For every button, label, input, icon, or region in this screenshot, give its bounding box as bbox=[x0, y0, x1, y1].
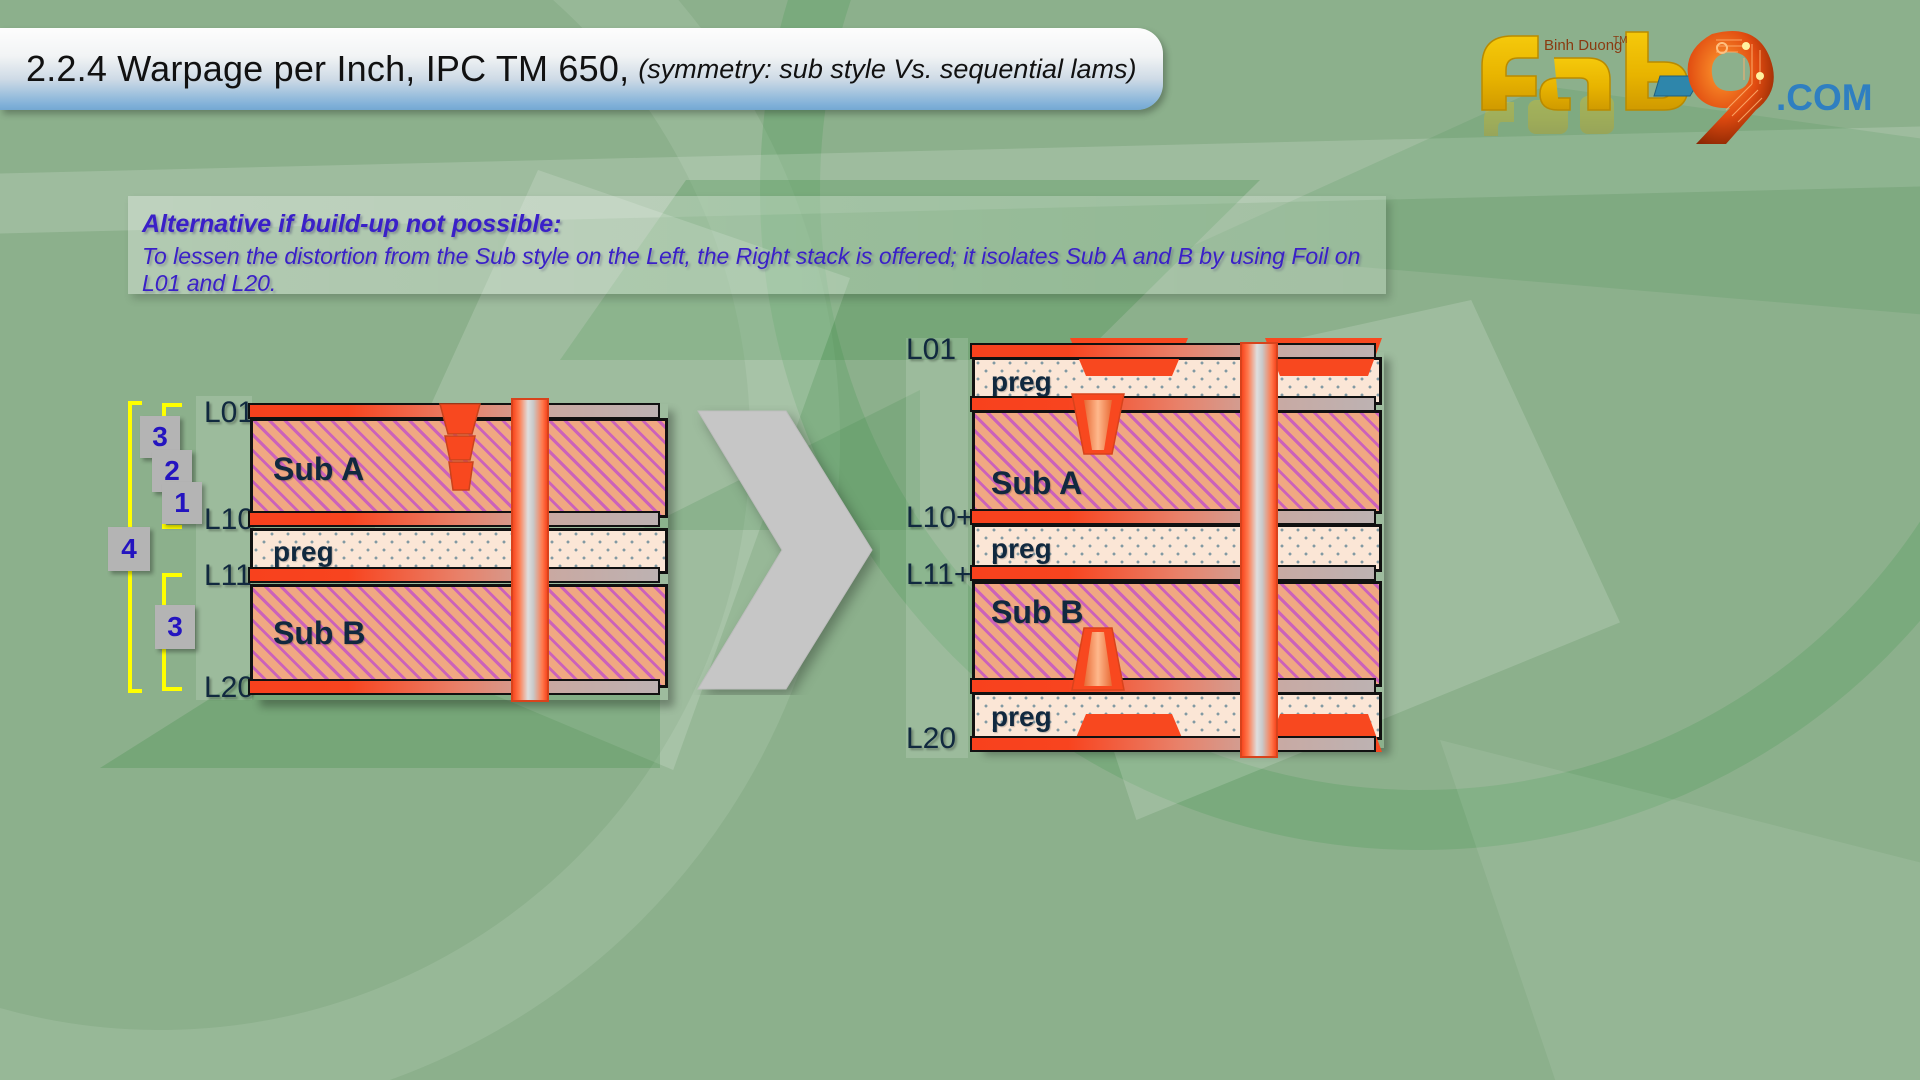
right-buried-via-sub-a bbox=[1068, 392, 1128, 460]
right-copper-l11p bbox=[970, 565, 1376, 581]
right-copper-l10p bbox=[970, 509, 1376, 525]
right-copper-l20 bbox=[970, 736, 1376, 752]
right-region-sub-b: Sub B bbox=[972, 581, 1382, 687]
right-region-sub-a: Sub A bbox=[972, 410, 1382, 514]
right-layer-label-l01: L01 bbox=[906, 333, 956, 367]
right-copper-sub-b-bottom bbox=[970, 678, 1376, 694]
right-layer-label-l20: L20 bbox=[906, 722, 956, 756]
right-region-preg-bottom-label: preg bbox=[991, 701, 1052, 733]
right-region-preg-top-label: preg bbox=[991, 366, 1052, 398]
right-region-sub-a-label: Sub A bbox=[991, 465, 1082, 502]
right-region-preg-mid-label: preg bbox=[991, 533, 1052, 565]
right-plated-through-hole bbox=[1240, 342, 1278, 758]
right-stackup-diagram: L01 L10+ L11+ L20 preg Sub A preg Sub B … bbox=[0, 0, 1920, 1080]
right-label-band bbox=[906, 338, 968, 758]
right-copper-l01 bbox=[970, 343, 1376, 359]
right-layer-label-l10p: L10+ bbox=[906, 501, 974, 535]
right-buried-via-sub-b bbox=[1068, 626, 1128, 694]
right-layer-label-l11p: L11+ bbox=[906, 558, 971, 592]
right-copper-sub-a-top bbox=[970, 396, 1376, 412]
